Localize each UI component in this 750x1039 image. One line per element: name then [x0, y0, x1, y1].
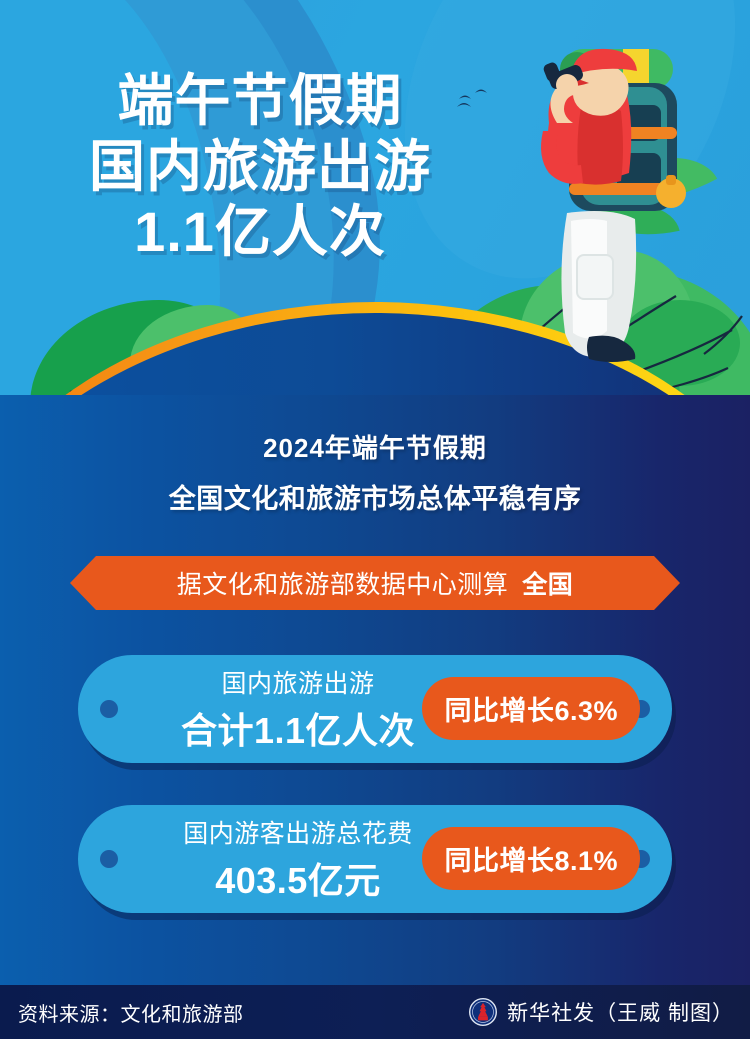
infographic-poster: 端午节假期 国内旅游出游 1.1亿人次 2024年端午节假期 全国文化和旅游市场…	[0, 0, 750, 1039]
ribbon-text: 据文化和旅游部数据中心测算全国	[177, 565, 574, 601]
card-text-block: 国内游客出游总花费 403.5亿元	[133, 814, 463, 904]
source-text: 资料来源：文化和旅游部	[18, 998, 244, 1027]
card-value: 合计1.1亿人次	[133, 702, 463, 754]
card-value: 403.5亿元	[133, 852, 463, 904]
growth-badge: 同比增长6.3%	[422, 677, 640, 740]
headline-line-3: 1.1亿人次	[0, 201, 520, 263]
card-dot-left	[100, 700, 118, 718]
card-label: 国内游客出游总花费	[133, 814, 463, 850]
growth-badge: 同比增长8.1%	[422, 827, 640, 890]
credit-text: 新华社发（王威 制图）	[507, 997, 734, 1027]
ribbon-text-main: 据文化和旅游部数据中心测算	[177, 571, 509, 599]
xinhua-logo-icon	[469, 998, 497, 1026]
headline-line-2: 国内旅游出游	[0, 136, 520, 198]
headline-line-1: 端午节假期	[0, 70, 520, 132]
subtitle-line-2: 全国文化和旅游市场总体平稳有序	[0, 477, 750, 516]
stat-card-tourist-spending: 国内游客出游总花费 403.5亿元 同比增长8.1%	[78, 805, 672, 913]
card-label: 国内旅游出游	[133, 664, 463, 700]
stat-card-tourist-trips: 国内旅游出游 合计1.1亿人次 同比增长6.3%	[78, 655, 672, 763]
card-dot-left	[100, 850, 118, 868]
subtitle-line-1: 2024年端午节假期	[0, 428, 750, 465]
ribbon-text-emphasis: 全国	[522, 571, 573, 599]
page-title: 端午节假期 国内旅游出游 1.1亿人次	[0, 70, 520, 263]
card-text-block: 国内旅游出游 合计1.1亿人次	[133, 664, 463, 754]
subtitle-block: 2024年端午节假期 全国文化和旅游市场总体平稳有序	[0, 428, 750, 516]
footer-bar: 资料来源：文化和旅游部 新华社发（王威 制图）	[0, 985, 750, 1039]
source-ribbon-banner: 据文化和旅游部数据中心测算全国	[70, 556, 680, 610]
credit-block: 新华社发（王威 制图）	[469, 997, 734, 1027]
